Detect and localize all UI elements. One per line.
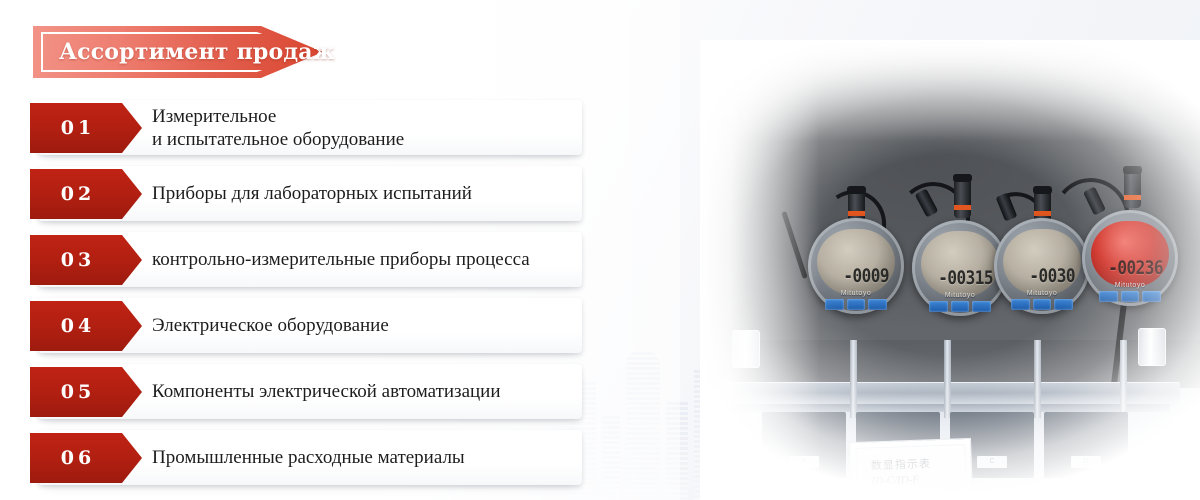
page-title: Ассортимент продаж (59, 26, 335, 78)
list-item-badge: 01 (30, 103, 142, 153)
gauge-4-reading: -00236 (1101, 257, 1163, 279)
gauge-1-brand: Mitutoyo (841, 290, 871, 297)
section-banner: Ассортимент продаж (33, 26, 323, 78)
list-item-label: Приборы для лабораторных испытаний (152, 166, 570, 221)
list-item[interactable]: 02 Приборы для лабораторных испытаний (30, 166, 582, 221)
sign-chinese-label: 数显指示表 (871, 454, 966, 473)
list-item[interactable]: 04 Электрическое оборудование (30, 298, 582, 353)
list-item-number: 02 (30, 169, 122, 219)
list-item[interactable]: 06 Промышленные расходные материалы (30, 430, 582, 485)
fixture-cup-right (1138, 328, 1166, 366)
category-list: 01 Измерительное и испытательное оборудо… (30, 100, 582, 496)
gauge-3-reading: -0030 (1013, 265, 1075, 287)
list-item-badge: 06 (30, 433, 142, 483)
slide-canvas: -0009 Mitutoyo -00315 Mitutoyo -0030 Mit… (0, 0, 1200, 500)
gauge-4-brand: Mitutoyo (1115, 282, 1145, 289)
list-item-badge: 03 (30, 235, 142, 285)
gauge-2-brand: Mitutoyo (945, 292, 975, 299)
list-item-label-line1: Электрическое оборудование (152, 314, 570, 338)
product-sign: 数显指示表 ID-C/ID-F (849, 438, 973, 500)
fixture-block-d: D (1044, 412, 1128, 478)
list-item-badge: 04 (30, 301, 142, 351)
list-item[interactable]: 01 Измерительное и испытательное оборудо… (30, 100, 582, 155)
gauge-1: -0009 Mitutoyo (808, 218, 904, 314)
gauge-2-reading: -00315 (931, 267, 993, 289)
sign-model-code: ID-C/ID-F (871, 472, 965, 487)
list-item-number: 06 (30, 433, 122, 483)
list-item-label: Измерительное и испытательное оборудован… (152, 100, 570, 155)
list-item-label: контрольно-измерительные приборы процесс… (152, 232, 570, 287)
list-item[interactable]: 03 контрольно-измерительные приборы проц… (30, 232, 582, 287)
gauge-3: -0030 Mitutoyo (994, 218, 1090, 314)
list-item-label: Компоненты электрической автоматизации (152, 364, 570, 419)
list-item-label-line1: Промышленные расходные материалы (152, 446, 570, 470)
list-item-badge: 02 (30, 169, 142, 219)
list-item-number: 05 (30, 367, 122, 417)
fixture-cup-left (732, 330, 760, 368)
list-item-label: Промышленные расходные материалы (152, 430, 570, 485)
list-item-badge: 05 (30, 367, 142, 417)
gauge-3-brand: Mitutoyo (1027, 290, 1057, 297)
list-item-number: 03 (30, 235, 122, 285)
list-item-label-line1: Компоненты электрической автоматизации (152, 380, 570, 404)
list-item-label: Электрическое оборудование (152, 298, 570, 353)
product-photo: -0009 Mitutoyo -00315 Mitutoyo -0030 Mit… (700, 40, 1200, 500)
list-item-label-line1: Измерительное (152, 105, 570, 128)
fixture-block-a: A (762, 412, 846, 478)
list-item-number: 01 (30, 103, 122, 153)
list-item[interactable]: 05 Компоненты электрической автоматизаци… (30, 364, 582, 419)
list-item-label-line1: Приборы для лабораторных испытаний (152, 182, 570, 206)
list-item-number: 04 (30, 301, 122, 351)
list-item-label-line1: контрольно-измерительные приборы процесс… (152, 248, 570, 272)
list-item-label-line2: и испытательное оборудование (152, 128, 570, 151)
gauge-4: -00236 Mitutoyo (1082, 210, 1178, 306)
gauge-1-reading: -0009 (827, 265, 889, 287)
